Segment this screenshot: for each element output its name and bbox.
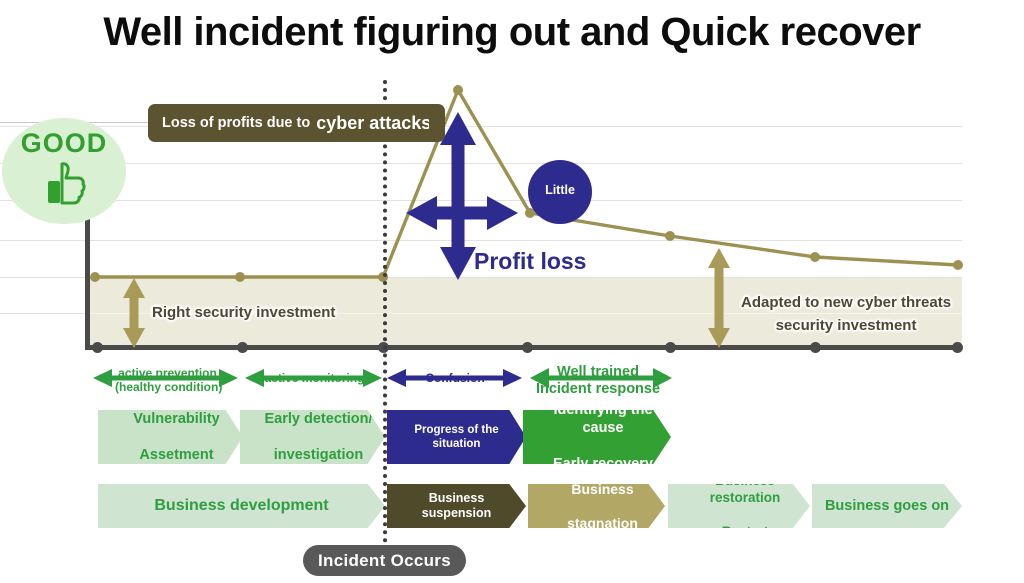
data-point — [453, 85, 463, 95]
little-badge-label: Little — [528, 183, 592, 197]
left-investment-label: Right security investment — [152, 304, 335, 321]
page-title: Well incident figuring out and Quick rec… — [0, 10, 1024, 55]
chevron-line1: Business goes on — [812, 497, 962, 515]
phase-label-line2: (healthy condition) — [115, 380, 220, 394]
gridline — [0, 126, 962, 127]
gridline — [0, 240, 962, 241]
chevron-line1: Progress of the situation — [387, 423, 526, 451]
chevron-line2: Assetment — [104, 446, 249, 464]
chevron-line1: Vulnerability — [104, 410, 249, 428]
chevron-business-suspension[interactable]: Business suspension — [387, 484, 526, 528]
chevron-line1: Business — [534, 481, 671, 498]
chevron-line1: Business development — [98, 496, 385, 516]
phase-label-line2: Incident response — [528, 381, 668, 398]
chevron-business-stagnation[interactable]: Business stagnation — [528, 484, 665, 528]
phase-label-active-prevention: active prevention (healthy condition) — [115, 366, 220, 394]
data-point — [953, 260, 963, 270]
phase-label-line1: Well trained — [528, 364, 668, 381]
thumbs-up-icon — [44, 160, 88, 208]
chevron-line2: Early recovery — [529, 455, 677, 473]
incident-occurs-label: Incident Occurs — [318, 551, 451, 571]
chevron-business-development[interactable]: Business development — [98, 484, 385, 528]
x-axis-tick-dot — [952, 342, 963, 353]
profit-loss-label: Profit loss — [474, 248, 586, 275]
x-axis-tick-dot — [810, 342, 821, 353]
chevron-business-goes-on[interactable]: Business goes on — [812, 484, 962, 528]
x-axis-tick-dot — [665, 342, 676, 353]
incident-occurs-marker[interactable]: Incident Occurs — [303, 545, 466, 576]
y-axis — [85, 216, 90, 350]
x-axis-tick-dot — [522, 342, 533, 353]
chevron-vulnerability-assetment[interactable]: Vulnerability Assetment — [98, 410, 243, 464]
incident-vertical-line — [383, 80, 387, 567]
chevron-early-detection[interactable]: Early detection/ investigation — [240, 410, 385, 464]
phase-label-line1: active prevention — [115, 366, 220, 380]
chevron-line2: Restart — [674, 523, 816, 540]
chevron-business-restoration[interactable]: Business restoration Restart — [668, 484, 810, 528]
chevron-line1: Business suspension — [387, 491, 526, 521]
gridline — [0, 200, 962, 201]
good-badge-label: GOOD — [2, 128, 126, 159]
right-investment-line2: security investment — [741, 314, 951, 337]
data-point — [810, 252, 820, 262]
chevron-line1: Business restoration — [674, 472, 816, 506]
cyber-attack-callout: Loss of profits due to cyber attacks — [148, 104, 445, 142]
chevron-line1: Identifying the cause — [529, 401, 677, 437]
callout-text-normal: Loss of profits due to — [162, 115, 310, 131]
chevron-line2: stagnation — [534, 515, 671, 532]
x-axis-tick-dot — [237, 342, 248, 353]
chevron-line1: Early detection/ — [246, 410, 391, 428]
x-axis-tick-dot — [92, 342, 103, 353]
chevron-line2: investigation — [246, 446, 391, 464]
right-investment-label: Adapted to new cyber threats security in… — [741, 291, 951, 337]
phase-label-incident-response: Well trained Incident response — [528, 364, 668, 398]
phase-label-active-monitoring: active monitoring — [262, 371, 367, 385]
phase-label-line1: active monitoring — [262, 371, 367, 385]
phase-label-line1: Confusion — [410, 371, 500, 385]
chevron-identifying-cause[interactable]: Identifying the cause Early recovery — [523, 410, 671, 464]
gridline — [0, 163, 962, 164]
right-investment-line1: Adapted to new cyber threats — [741, 291, 951, 314]
chevron-progress-of-situation[interactable]: Progress of the situation — [387, 410, 526, 464]
callout-text-emphasis: cyber attacks — [316, 113, 431, 134]
phase-label-confusion: Confusion — [410, 371, 500, 385]
callout-pointer — [429, 110, 446, 136]
